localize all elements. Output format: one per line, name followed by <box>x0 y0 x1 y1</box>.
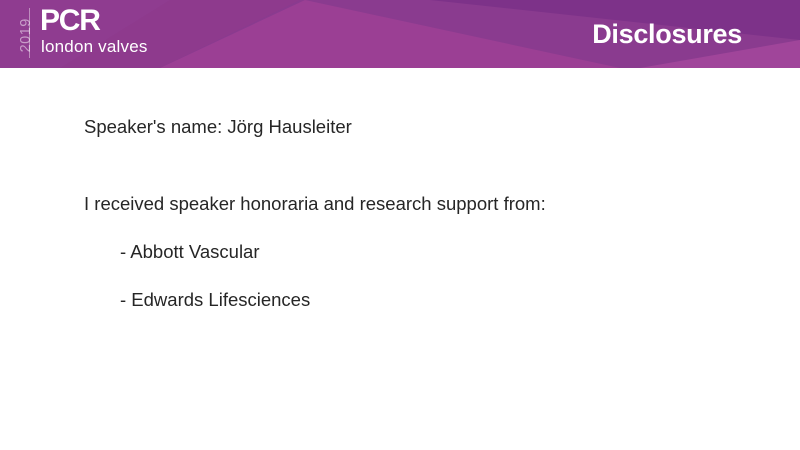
logo-subtitle-text: london valves <box>41 38 148 55</box>
disclosure-list-item: - Edwards Lifesciences <box>120 289 310 311</box>
year-badge: 2019 <box>13 9 39 59</box>
slide-body: Speaker's name: Jörg Hausleiter I receiv… <box>0 68 800 450</box>
speaker-name-line: Speaker's name: Jörg Hausleiter <box>84 116 352 138</box>
pcr-london-valves-logo: 2019 PCR london valves <box>0 0 160 68</box>
logo-divider <box>29 8 30 58</box>
slide-header-band: 2019 PCR london valves Disclosures <box>0 0 800 68</box>
disclosure-list-item: - Abbott Vascular <box>120 241 260 263</box>
year-label: 2019 <box>19 10 34 60</box>
logo-brand-text: PCR <box>40 6 100 36</box>
disclosure-slide: 2019 PCR london valves Disclosures Speak… <box>0 0 800 450</box>
disclosure-intro-line: I received speaker honoraria and researc… <box>84 193 546 215</box>
page-title: Disclosures <box>592 18 742 50</box>
